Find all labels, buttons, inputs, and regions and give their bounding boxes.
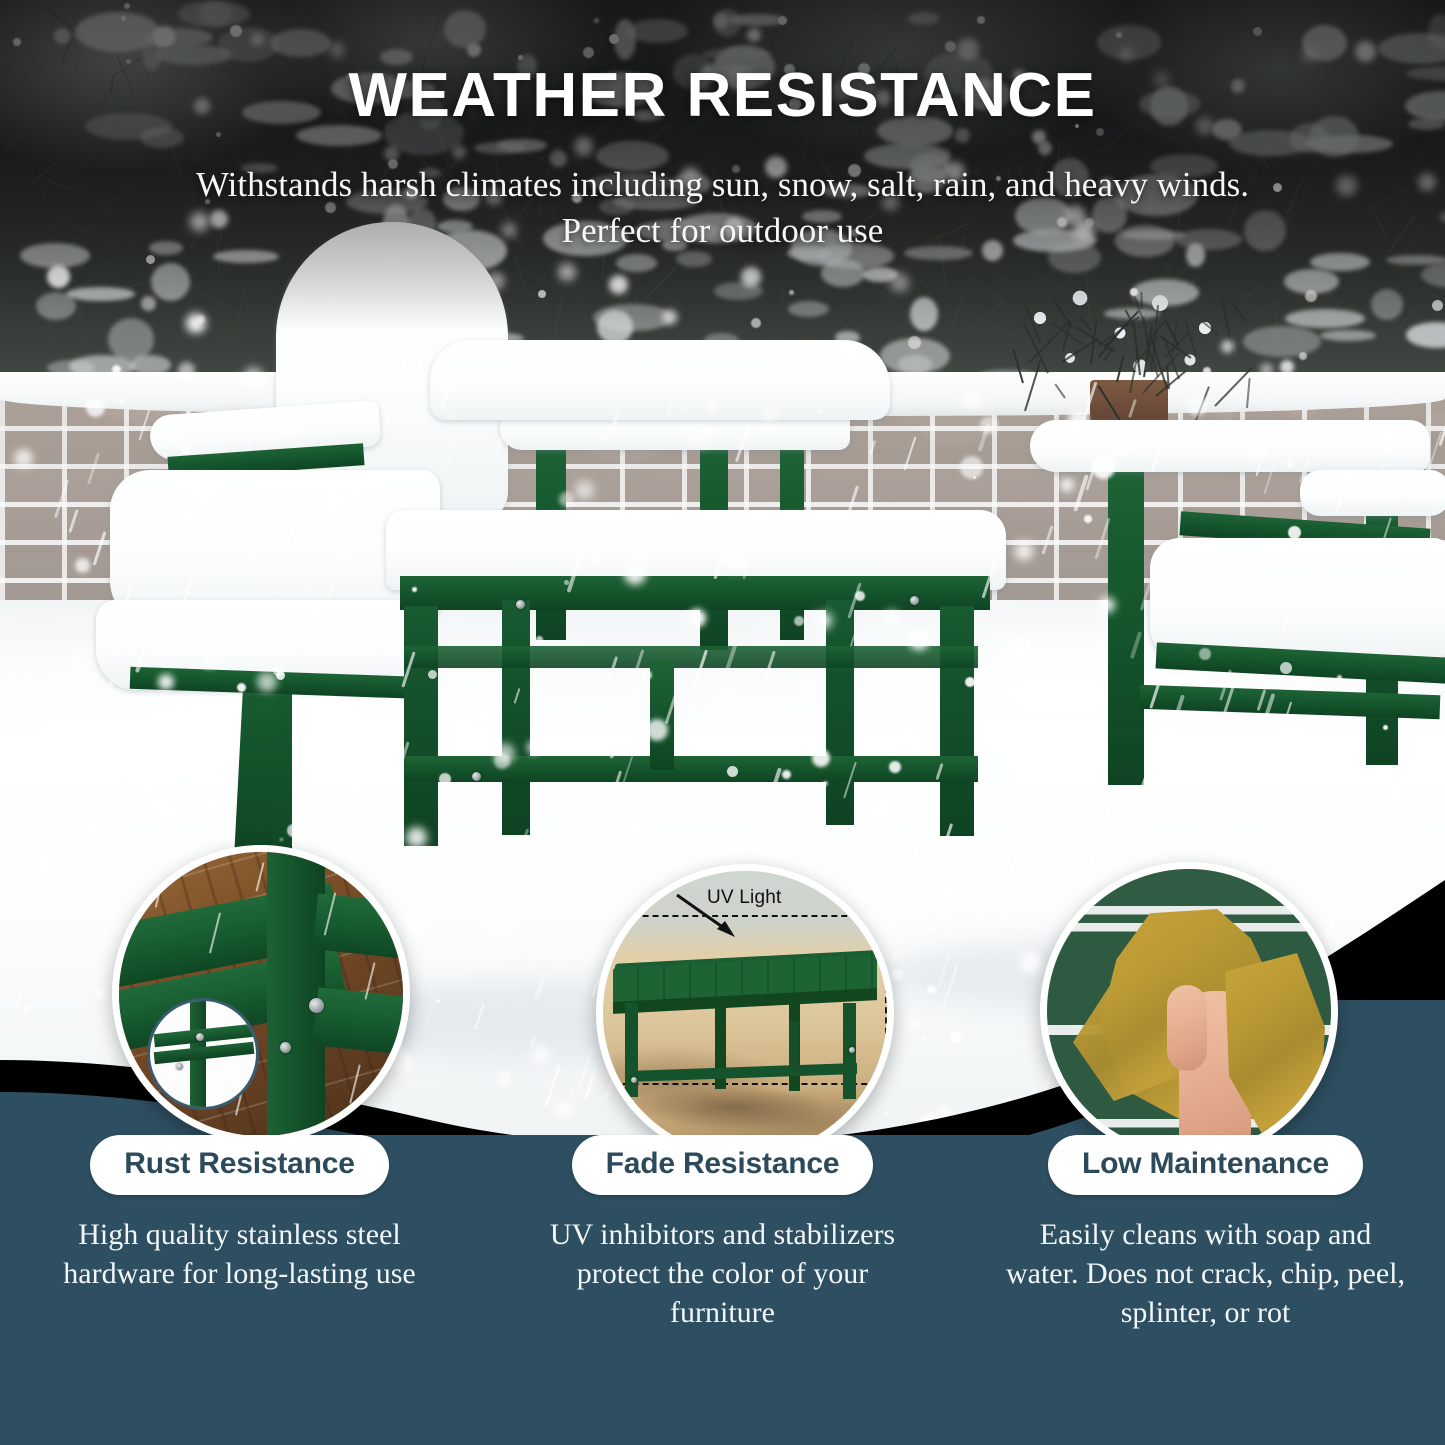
feature-column-low-maintenance: Low Maintenance Easily cleans with soap …: [978, 1135, 1433, 1332]
chair-right-arm-snow: [1030, 420, 1430, 472]
table-apron: [400, 576, 990, 610]
page-subtitle: Withstands harsh climates including sun,…: [170, 162, 1275, 253]
table-leg-fl: [625, 1003, 638, 1097]
hand-finger: [1167, 985, 1207, 1071]
description-fade-resistance: UV inhibitors and stabilizers protect th…: [495, 1215, 950, 1332]
stainless-screw: [309, 998, 324, 1013]
table-screw: [849, 1047, 855, 1053]
badge-low-maintenance[interactable]: Low Maintenance: [1048, 1135, 1363, 1195]
table-leg-closeup: [267, 845, 325, 1143]
joint-detail-inset: [147, 998, 259, 1110]
stainless-screw: [280, 1042, 291, 1053]
feature-column-fade-resistance: Fade Resistance UV inhibitors and stabil…: [495, 1135, 950, 1332]
badge-fade-resistance[interactable]: Fade Resistance: [572, 1135, 874, 1195]
table-brace: [789, 1021, 799, 1071]
inset-screw: [196, 1033, 204, 1041]
badge-rust-resistance[interactable]: Rust Resistance: [90, 1135, 388, 1195]
uv-light-label: UV Light: [707, 887, 781, 909]
infographic-root: WEATHER RESISTANCE Withstands harsh clim…: [0, 0, 1445, 1445]
feature-image-rust-resistance: [112, 845, 410, 1143]
features-panel: Rust Resistance High quality stainless s…: [0, 1135, 1445, 1445]
table-screw: [516, 600, 525, 609]
table-stretcher-upper: [404, 646, 978, 668]
feature-column-rust-resistance: Rust Resistance High quality stainless s…: [12, 1135, 467, 1293]
description-rust-resistance: High quality stainless steel hardware fo…: [12, 1215, 467, 1293]
inset-screw: [176, 1063, 183, 1070]
table-screw: [631, 1077, 637, 1083]
chair-right-arm-snow-2: [1300, 470, 1445, 516]
description-low-maintenance: Easily cleans with soap and water. Does …: [978, 1215, 1433, 1332]
page-title: WEATHER RESISTANCE: [0, 60, 1445, 131]
feature-image-low-maintenance: [1040, 862, 1338, 1160]
chair-right-leg: [1108, 465, 1144, 785]
feature-image-fade-resistance: UV Light: [596, 864, 894, 1162]
table-screw: [910, 596, 919, 605]
